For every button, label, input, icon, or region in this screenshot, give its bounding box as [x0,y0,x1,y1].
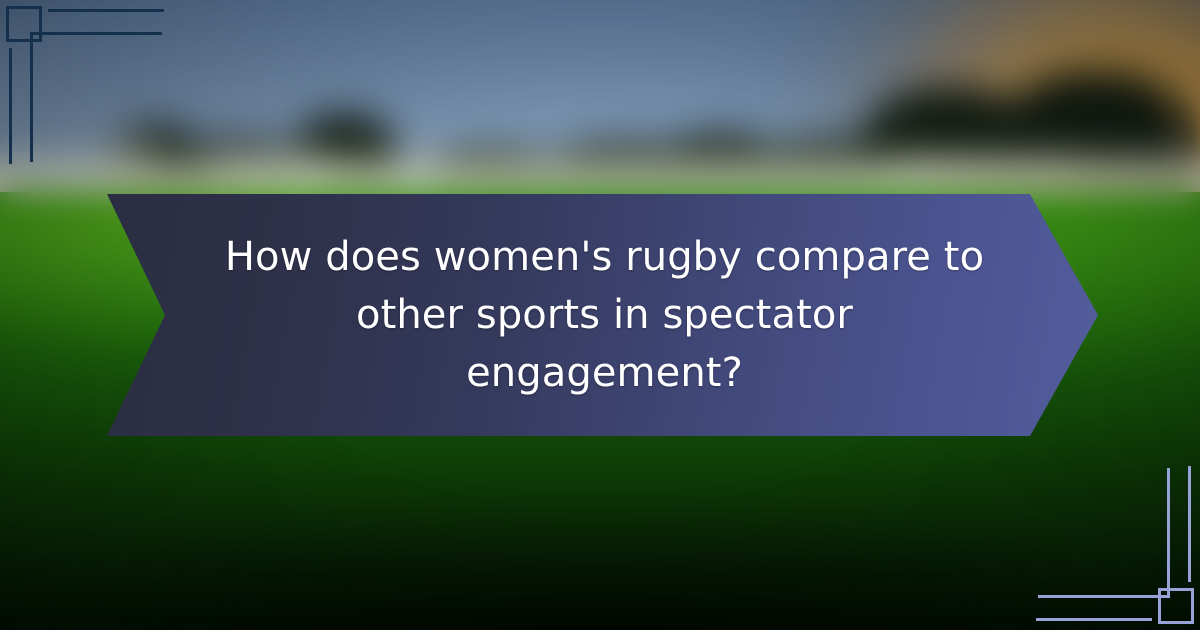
question-text: How does women's rugby compare to other … [225,228,985,402]
corner-line-outer-horizontal [48,9,164,12]
corner-decoration-top-left [0,0,168,168]
corner-line-inner-vertical [1167,468,1170,598]
corner-line-outer-vertical [9,48,12,164]
question-banner: How does women's rugby compare to other … [107,194,1098,436]
corner-square-icon [1158,588,1194,624]
question-card: How does women's rugby compare to other … [0,0,1200,630]
corner-line-inner-vertical [30,32,33,162]
corner-line-outer-vertical [1188,466,1191,582]
corner-square-icon [6,6,42,42]
corner-line-inner-horizontal [30,32,162,35]
corner-line-outer-horizontal [1036,618,1152,621]
corner-decoration-bottom-right [1032,462,1200,630]
corner-line-inner-horizontal [1038,595,1170,598]
